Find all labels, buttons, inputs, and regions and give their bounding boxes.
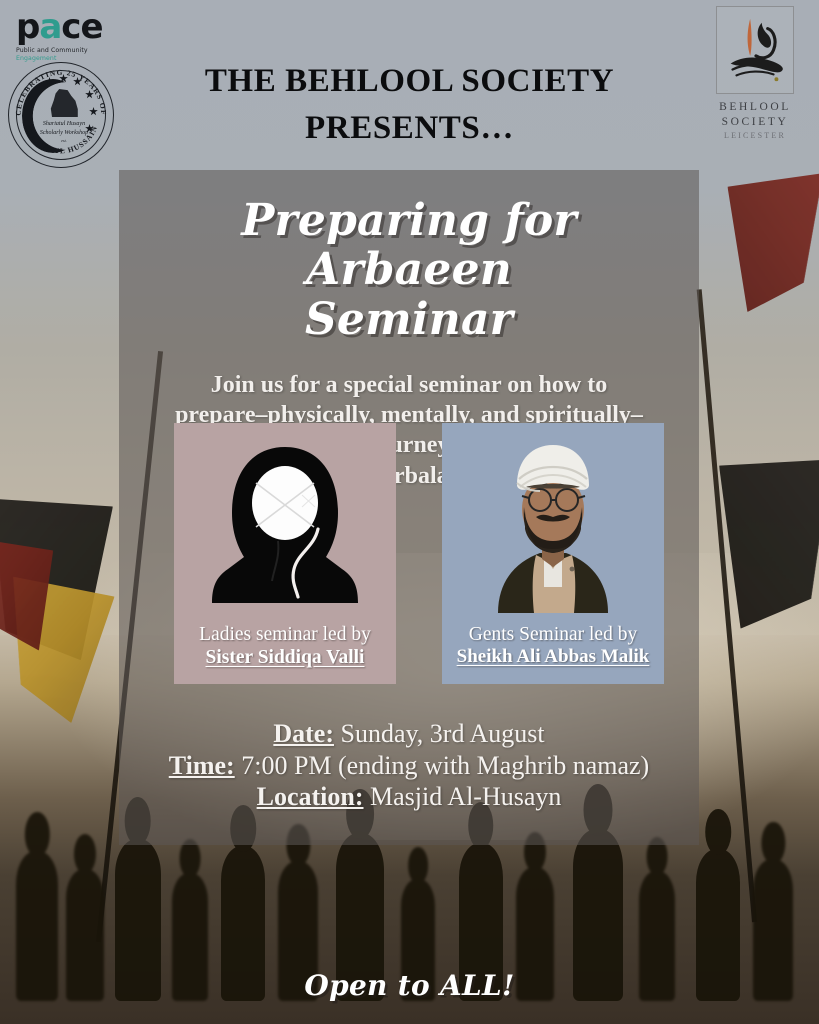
detail-date: Date: Sunday, 3rd August [149, 718, 669, 750]
event-details: Date: Sunday, 3rd August Time: 7:00 PM (… [149, 718, 669, 813]
pace-logo: pace Public and Community Engagement [16, 10, 120, 64]
speaker-caption-gents: Gents Seminar led by Sheikh Ali Abbas Ma… [457, 623, 650, 669]
speaker-lead-gents: Gents Seminar led by [457, 623, 650, 646]
event-poster: pace Public and Community Engagement Sha… [0, 0, 819, 1024]
speaker-lead-ladies: Ladies seminar led by [199, 623, 371, 646]
speaker-cards: Ladies seminar led by Sister Siddiqa Val… [173, 423, 665, 684]
detail-date-value: Sunday, 3rd August [334, 719, 545, 748]
header-line-2: PRESENTS… [0, 105, 819, 152]
content-panel: Preparing for Arbaeen Seminar Join us fo… [119, 170, 699, 845]
speaker-name-gents: Sheikh Ali Abbas Malik [457, 646, 650, 669]
pace-letter-p: p [16, 10, 39, 44]
page-title: Preparing for Arbaeen Seminar [149, 196, 669, 344]
header-line-1: THE BEHLOOL SOCIETY [0, 58, 819, 105]
detail-date-label: Date: [273, 719, 334, 748]
title-line-1: Preparing for Arbaeen [149, 196, 669, 295]
speaker-caption-ladies: Ladies seminar led by Sister Siddiqa Val… [199, 623, 371, 670]
detail-location-label: Location: [257, 782, 364, 811]
speaker-card-ladies: Ladies seminar led by Sister Siddiqa Val… [174, 423, 396, 684]
poster-header: THE BEHLOOL SOCIETY PRESENTS… [0, 58, 819, 152]
pace-letter-a: a [39, 10, 61, 44]
detail-time-label: Time: [169, 751, 235, 780]
hijab-silhouette-icon [194, 437, 376, 613]
detail-location-value: Masjid Al-Husayn [364, 782, 562, 811]
pace-wordmark: pace [16, 10, 120, 44]
detail-location: Location: Masjid Al-Husayn [149, 781, 669, 813]
pace-letters-ce: ce [61, 10, 102, 44]
detail-time-value: 7:00 PM (ending with Maghrib namaz) [235, 751, 650, 780]
open-to-all-banner: Open to ALL! [0, 969, 819, 1002]
speaker-name-ladies: Sister Siddiqa Valli [199, 646, 371, 669]
detail-time: Time: 7:00 PM (ending with Maghrib namaz… [149, 750, 669, 782]
speaker-card-gents: Gents Seminar led by Sheikh Ali Abbas Ma… [442, 423, 664, 684]
sheikh-photo [462, 437, 644, 613]
pace-tagline-line1: Public and Community [16, 47, 120, 55]
title-line-2: Seminar [149, 295, 669, 344]
